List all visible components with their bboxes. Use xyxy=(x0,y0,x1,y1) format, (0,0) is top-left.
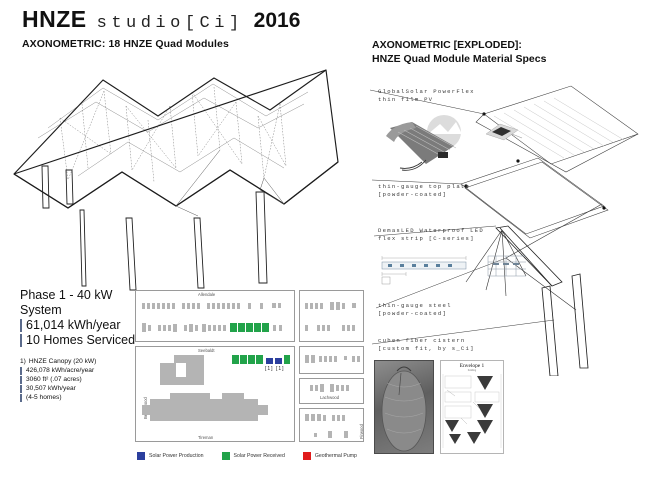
tick-mark xyxy=(20,334,22,347)
phase-panel: Phase 1 - 40 kW System 61,014 kWh/year 1… xyxy=(20,288,145,402)
tick-mark xyxy=(20,394,22,402)
legend-swatch-received xyxy=(222,452,230,460)
studio-title: studio[Ci] xyxy=(97,14,244,33)
note-title: HNZE Canopy (20 kW) xyxy=(29,357,96,366)
legend-swatch-geothermal xyxy=(303,452,311,460)
phase-title: Phase 1 - 40 kW System xyxy=(20,288,145,318)
note-line-label: 426,078 kWh/acre/year xyxy=(26,366,94,375)
note-index: 1) xyxy=(20,357,26,366)
note-line: 426,078 kWh/acre/year xyxy=(20,366,145,375)
phase-stat: 10 Homes Serviced xyxy=(20,333,145,348)
tick-mark xyxy=(20,319,22,332)
note-line: 3060 ft² (.07 acres) xyxy=(20,375,145,384)
map-block-northwest: Allendale xyxy=(135,290,295,342)
note-line: 30,507 kWh/year xyxy=(20,384,145,393)
map-block-southwest: Seebaldt Beechwood Tireman [1] [1] xyxy=(135,346,295,442)
street-label-tireman: Tireman xyxy=(198,435,213,440)
tick-mark xyxy=(20,367,22,375)
pv-laminate-photo xyxy=(382,112,478,179)
map-block-east-1 xyxy=(299,346,364,374)
note-line-label: (4-5 homes) xyxy=(26,393,62,402)
legend-label: Solar Power Production xyxy=(149,453,204,459)
exploded-title-line2: HNZE Quad Module Material Specs xyxy=(372,52,546,66)
street-label-firwood: Firwood xyxy=(359,424,364,439)
annotation-pv: GlobalSolar PowerFlex thin film PV xyxy=(378,88,475,104)
module-tags: [1] [1] xyxy=(265,366,285,372)
page-subtitle: AXONOMETRIC: 18 HNZE Quad Modules xyxy=(22,38,300,50)
phase-stat-label: 10 Homes Serviced xyxy=(26,333,135,348)
exploded-title: AXONOMETRIC [EXPLODED]: HNZE Quad Module… xyxy=(372,38,546,66)
annotation-steel: thin-gauge steel [powder-coated] xyxy=(378,302,452,318)
site-map: Allendale xyxy=(135,290,364,442)
title-line: HNZE studio[Ci] 2016 xyxy=(22,6,300,33)
led-strip-drawing xyxy=(376,252,474,291)
legend-item: Solar Power Production xyxy=(137,452,204,460)
led-section-drawing xyxy=(482,252,528,287)
street-label-seebaldt: Seebaldt xyxy=(198,348,215,353)
exploded-title-line1: AXONOMETRIC [EXPLODED]: xyxy=(372,38,546,52)
tick-mark xyxy=(20,376,22,384)
legend-item: Geothermal Pump xyxy=(303,452,357,460)
legend-label: Geothermal Pump xyxy=(315,453,357,459)
phase-note: 1) HNZE Canopy (20 kW) 426,078 kWh/acre/… xyxy=(20,357,145,402)
street-label-lachwood: Lachwood xyxy=(320,395,339,400)
pv-junction-box-photo xyxy=(482,118,524,153)
note-line-label: 3060 ft² (.07 acres) xyxy=(26,375,82,384)
legend-label: Solar Power Received xyxy=(234,453,285,459)
envelope-document: Envelope 1 Folding xyxy=(440,360,504,454)
brand-title: HNZE xyxy=(22,6,87,33)
annotation-led: DemasLED Waterproof LED flex strip [C-se… xyxy=(378,227,484,243)
year-title: 2016 xyxy=(254,9,301,33)
note-line: (4-5 homes) xyxy=(20,393,145,402)
legend-swatch-production xyxy=(137,452,145,460)
map-block-northeast xyxy=(299,290,364,342)
legend-item: Solar Power Received xyxy=(222,452,285,460)
phase-stat-label: 61,014 kWh/year xyxy=(26,318,121,333)
tick-mark xyxy=(20,385,22,393)
annotation-top-plate: thin-gauge top plate [powder-coated] xyxy=(378,183,470,199)
map-block-east-3: Firwood xyxy=(299,408,364,442)
page-header: HNZE studio[Ci] 2016 AXONOMETRIC: 18 HNZ… xyxy=(22,6,300,50)
phase-note-header: 1) HNZE Canopy (20 kW) xyxy=(20,357,145,366)
map-legend: Solar Power Production Solar Power Recei… xyxy=(137,452,357,460)
annotation-cistern: cuben fiber cistern [custom fit, by s_Ci… xyxy=(378,337,475,353)
map-block-east-2: Lachwood xyxy=(299,378,364,404)
note-line-label: 30,507 kWh/year xyxy=(26,384,76,393)
cistern-photo xyxy=(374,360,434,454)
canopy-axonometric xyxy=(8,58,348,298)
street-label-allendale: Allendale xyxy=(198,292,215,297)
phase-stat: 61,014 kWh/year xyxy=(20,318,145,333)
